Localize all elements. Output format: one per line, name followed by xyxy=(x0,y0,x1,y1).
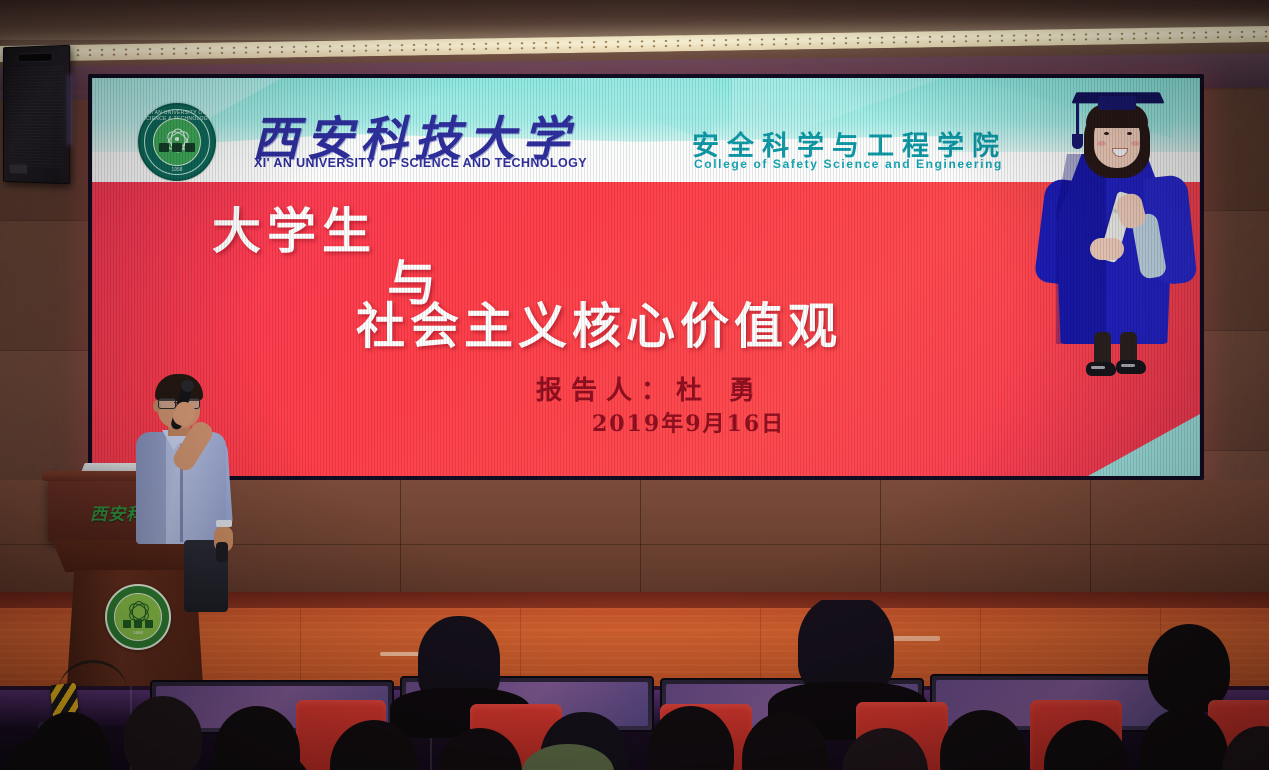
slide-body-red: 大学生 与 社会主义核心价值观 报告人：杜 勇 2019年9月16日 xyxy=(92,182,1200,476)
corner-triangle-decoration xyxy=(1088,414,1200,476)
presenter-person xyxy=(130,378,234,578)
wall-loudspeaker xyxy=(3,45,70,184)
slide-date: 2019年9月16日 xyxy=(592,406,785,438)
audience-area xyxy=(0,600,1269,770)
audience-head xyxy=(124,696,202,770)
university-seal-icon: XI'AN UNIVERSITY OF SCIENCE & TECHNOLOGY… xyxy=(138,103,216,181)
seal-year: 1958 xyxy=(140,167,214,173)
slide-title-line1: 大学生 xyxy=(212,192,377,263)
graduate-illustration xyxy=(1032,88,1200,386)
presentation-clicker[interactable] xyxy=(216,542,228,562)
audience-head xyxy=(798,600,894,694)
university-name-en: XI' AN UNIVERSITY OF SCIENCE AND TECHNOL… xyxy=(254,156,587,170)
led-presentation-screen[interactable]: XI'AN UNIVERSITY OF SCIENCE & TECHNOLOGY… xyxy=(92,78,1200,476)
slide-presenter: 报告人：杜 勇 xyxy=(536,370,764,407)
auditorium-scene: XI'AN UNIVERSITY OF SCIENCE & TECHNOLOGY… xyxy=(0,0,1269,770)
slide-title-line3: 社会主义核心价值观 xyxy=(356,287,842,358)
college-name-en: College of Safety Science and Engineerin… xyxy=(694,157,1003,171)
